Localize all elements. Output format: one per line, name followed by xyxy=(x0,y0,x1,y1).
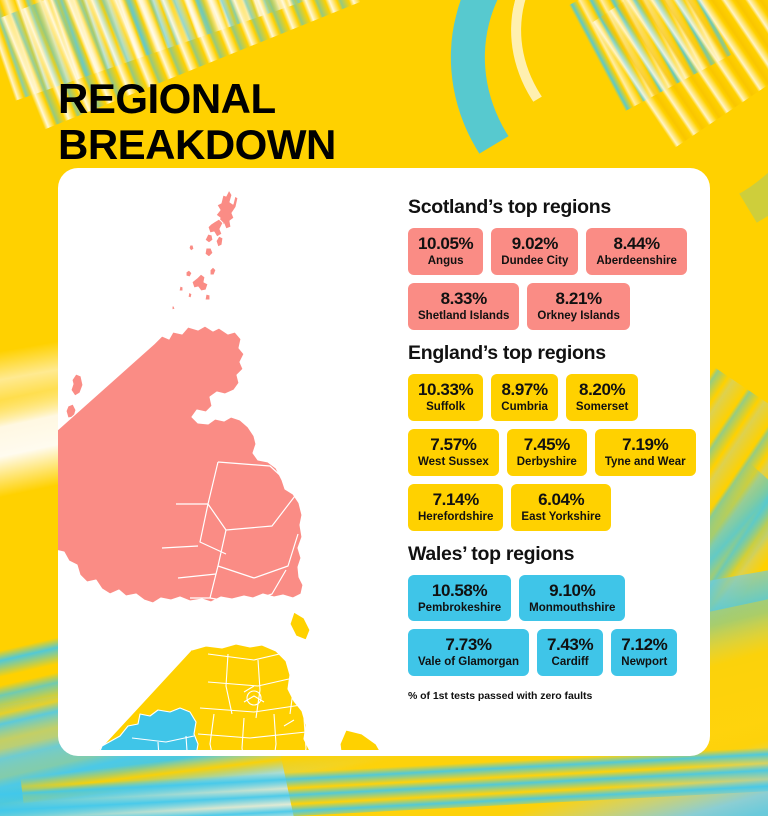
region-name: Tyne and Wear xyxy=(605,456,686,469)
region-percentage: 6.04% xyxy=(521,490,600,509)
chip-row: 10.58%Pembrokeshire9.10%Monmouthshire xyxy=(408,575,698,622)
content-card: Scotland’s top regions10.05%Angus9.02%Du… xyxy=(58,168,710,756)
region-percentage: 8.44% xyxy=(596,234,677,253)
chip-row: 7.73%Vale of Glamorgan7.43%Cardiff7.12%N… xyxy=(408,629,698,676)
section-wales: Wales’ top regions10.58%Pembrokeshire9.1… xyxy=(408,543,698,677)
map-region-england xyxy=(58,612,391,750)
region-percentage: 7.14% xyxy=(418,490,493,509)
region-chip[interactable]: 7.73%Vale of Glamorgan xyxy=(408,629,529,676)
section-title-scotland: Scotland’s top regions xyxy=(408,196,698,219)
region-chip[interactable]: 9.02%Dundee City xyxy=(491,228,578,275)
section-title-wales: Wales’ top regions xyxy=(408,543,698,566)
region-name: Orkney Islands xyxy=(537,310,619,323)
region-name: Newport xyxy=(621,656,667,669)
region-name: Monmouthshire xyxy=(529,602,615,615)
region-name: Aberdeenshire xyxy=(596,255,677,268)
region-chip[interactable]: 8.97%Cumbria xyxy=(491,374,558,421)
region-percentage: 7.73% xyxy=(418,635,519,654)
region-chip[interactable]: 10.05%Angus xyxy=(408,228,483,275)
region-name: Cardiff xyxy=(547,656,593,669)
region-percentage: 10.05% xyxy=(418,234,473,253)
section-scotland: Scotland’s top regions10.05%Angus9.02%Du… xyxy=(408,196,698,330)
footnote: % of 1st tests passed with zero faults xyxy=(408,690,698,702)
region-chip[interactable]: 7.57%West Sussex xyxy=(408,429,499,476)
chip-row: 7.57%West Sussex7.45%Derbyshire7.19%Tyne… xyxy=(408,429,698,476)
region-chip[interactable]: 7.12%Newport xyxy=(611,629,677,676)
region-percentage: 7.57% xyxy=(418,435,489,454)
regions-data-panel: Scotland’s top regions10.05%Angus9.02%Du… xyxy=(408,196,698,702)
region-name: Angus xyxy=(418,255,473,268)
region-name: Vale of Glamorgan xyxy=(418,656,519,669)
region-chip[interactable]: 7.19%Tyne and Wear xyxy=(595,429,696,476)
region-name: Shetland Islands xyxy=(418,310,509,323)
region-percentage: 7.19% xyxy=(605,435,686,454)
region-chip[interactable]: 9.10%Monmouthshire xyxy=(519,575,625,622)
region-chip[interactable]: 8.21%Orkney Islands xyxy=(527,283,629,330)
map-region-scotland xyxy=(58,190,303,646)
region-chip[interactable]: 8.33%Shetland Islands xyxy=(408,283,519,330)
section-title-england: England’s top regions xyxy=(408,342,698,365)
region-name: Cumbria xyxy=(501,401,548,414)
region-name: Suffolk xyxy=(418,401,473,414)
region-percentage: 8.97% xyxy=(501,380,548,399)
region-percentage: 7.45% xyxy=(517,435,577,454)
region-chip[interactable]: 7.43%Cardiff xyxy=(537,629,603,676)
region-percentage: 10.33% xyxy=(418,380,473,399)
page-title: REGIONAL BREAKDOWN xyxy=(58,76,478,168)
region-chip[interactable]: 10.33%Suffolk xyxy=(408,374,483,421)
chip-row: 10.05%Angus9.02%Dundee City8.44%Aberdeen… xyxy=(408,228,698,275)
chip-row: 8.33%Shetland Islands8.21%Orkney Islands xyxy=(408,283,698,330)
region-percentage: 7.43% xyxy=(547,635,593,654)
region-name: East Yorkshire xyxy=(521,511,600,524)
region-name: Derbyshire xyxy=(517,456,577,469)
region-percentage: 9.02% xyxy=(501,234,568,253)
region-chip[interactable]: 10.58%Pembrokeshire xyxy=(408,575,511,622)
region-chip[interactable]: 7.45%Derbyshire xyxy=(507,429,587,476)
region-chip[interactable]: 8.20%Somerset xyxy=(566,374,638,421)
region-name: West Sussex xyxy=(418,456,489,469)
region-chip[interactable]: 8.44%Aberdeenshire xyxy=(586,228,687,275)
region-chip[interactable]: 6.04%East Yorkshire xyxy=(511,484,610,531)
region-percentage: 8.20% xyxy=(576,380,628,399)
chip-row: 10.33%Suffolk8.97%Cumbria8.20%Somerset xyxy=(408,374,698,421)
region-name: Somerset xyxy=(576,401,628,414)
region-percentage: 8.33% xyxy=(418,289,509,308)
region-percentage: 8.21% xyxy=(537,289,619,308)
region-percentage: 9.10% xyxy=(529,581,615,600)
uk-map xyxy=(58,174,398,750)
chip-row: 7.14%Herefordshire6.04%East Yorkshire xyxy=(408,484,698,531)
region-name: Herefordshire xyxy=(418,511,493,524)
section-england: England’s top regions10.33%Suffolk8.97%C… xyxy=(408,342,698,531)
region-name: Dundee City xyxy=(501,255,568,268)
region-name: Pembrokeshire xyxy=(418,602,501,615)
region-percentage: 10.58% xyxy=(418,581,501,600)
region-percentage: 7.12% xyxy=(621,635,667,654)
infographic-root: REGIONAL BREAKDOWN xyxy=(0,0,768,816)
region-chip[interactable]: 7.14%Herefordshire xyxy=(408,484,503,531)
